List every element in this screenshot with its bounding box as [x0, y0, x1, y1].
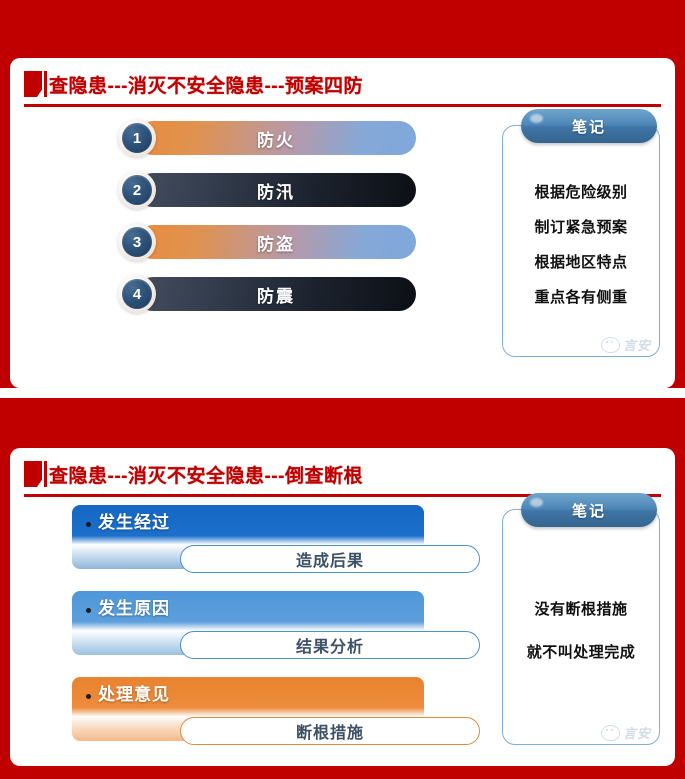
step-title: 处理意见 — [98, 682, 170, 708]
bar-track: 防火 — [136, 121, 416, 155]
page-title: 查隐患---消灭不安全隐患---倒查断根 — [49, 461, 363, 488]
bar-track: 防汛 — [136, 173, 416, 207]
number-badge: 4 — [118, 275, 156, 313]
page-title: 查隐患---消灭不安全隐患---预案四防 — [49, 71, 363, 98]
number-badge-value: 2 — [122, 175, 152, 205]
notes-header-label: 笔记 — [572, 116, 606, 137]
list-item[interactable]: 发生原因 结果分析 — [72, 591, 480, 665]
watermark: 言安 — [601, 723, 651, 742]
slide-1: 查隐患---消灭不安全隐患---预案四防 防火 1 防汛 — [10, 58, 675, 388]
slide-2-body: 发生经过 造成后果 发生原因 结果分析 — [10, 497, 675, 763]
note-line: 根据地区特点 — [534, 251, 627, 272]
slide-separator — [0, 388, 685, 398]
bar-track: 防盗 — [136, 225, 416, 259]
note-line: 没有断根措施 — [534, 598, 627, 619]
gloss-highlight — [530, 114, 543, 123]
number-badge: 3 — [118, 223, 156, 261]
watermark-label: 言安 — [623, 723, 651, 742]
notes-header-pill: 笔记 — [521, 493, 657, 527]
notes-body: 根据危险级别 制订紧急预案 根据地区特点 重点各有侧重 — [503, 156, 659, 332]
list-item[interactable]: 防盗 3 — [118, 225, 416, 259]
bullet-icon — [86, 608, 91, 613]
bar-label: 防汛 — [257, 178, 295, 203]
bar-label: 防盗 — [257, 230, 295, 255]
number-badge: 2 — [118, 171, 156, 209]
watermark: 言安 — [601, 335, 651, 354]
step-pill-label: 断根措施 — [296, 719, 364, 743]
step-pill[interactable]: 结果分析 — [180, 631, 480, 659]
number-badge-value: 4 — [122, 279, 152, 309]
watermark-label: 言安 — [623, 335, 651, 354]
notes-panel: 笔记 根据危险级别 制订紧急预案 根据地区特点 重点各有侧重 言安 — [502, 125, 660, 357]
notes-panel: 笔记 没有断根措施 就不叫处理完成 言安 — [502, 509, 660, 745]
note-line: 就不叫处理完成 — [527, 641, 636, 662]
list-item[interactable]: 防火 1 — [118, 121, 416, 155]
bullet-icon — [86, 694, 91, 699]
flag-icon — [24, 461, 42, 487]
number-badge-value: 3 — [122, 227, 152, 257]
bullet-icon — [86, 522, 91, 527]
slide-2: 查隐患---消灭不安全隐患---倒查断根 发生经过 造成后果 — [10, 448, 675, 766]
bar-label: 防火 — [257, 126, 295, 151]
slide-1-title-row: 查隐患---消灭不安全隐患---预案四防 — [10, 66, 675, 102]
wechat-icon — [601, 725, 620, 741]
root-cause-steps: 发生经过 造成后果 发生原因 结果分析 — [72, 505, 480, 763]
step-pill[interactable]: 断根措施 — [180, 717, 480, 745]
bar-track: 防震 — [136, 277, 416, 311]
gloss-highlight — [530, 498, 543, 507]
list-item[interactable]: 防汛 2 — [118, 173, 416, 207]
step-pill[interactable]: 造成后果 — [180, 545, 480, 573]
step-pill-label: 结果分析 — [296, 633, 364, 657]
step-pill-label: 造成后果 — [296, 547, 364, 571]
step-title: 发生经过 — [98, 510, 170, 536]
slide-1-body: 防火 1 防汛 2 防盗 — [10, 107, 675, 385]
step-title: 发生原因 — [98, 596, 170, 622]
notes-header-pill: 笔记 — [521, 109, 657, 143]
note-line: 重点各有侧重 — [534, 286, 627, 307]
slide-2-title-row: 查隐患---消灭不安全隐患---倒查断根 — [10, 456, 675, 492]
slide-deck: 查隐患---消灭不安全隐患---预案四防 防火 1 防汛 — [0, 0, 685, 779]
bar-label: 防震 — [257, 282, 295, 307]
list-item[interactable]: 防震 4 — [118, 277, 416, 311]
four-prevention-list: 防火 1 防汛 2 防盗 — [118, 121, 416, 329]
note-line: 根据危险级别 — [534, 181, 627, 202]
flag-icon — [24, 71, 42, 97]
list-item[interactable]: 发生经过 造成后果 — [72, 505, 480, 579]
notes-body: 没有断根措施 就不叫处理完成 — [503, 540, 659, 720]
note-line: 制订紧急预案 — [534, 216, 627, 237]
number-badge: 1 — [118, 119, 156, 157]
number-badge-value: 1 — [122, 123, 152, 153]
list-item[interactable]: 处理意见 断根措施 — [72, 677, 480, 751]
wechat-icon — [601, 337, 620, 353]
notes-header-label: 笔记 — [572, 500, 606, 521]
